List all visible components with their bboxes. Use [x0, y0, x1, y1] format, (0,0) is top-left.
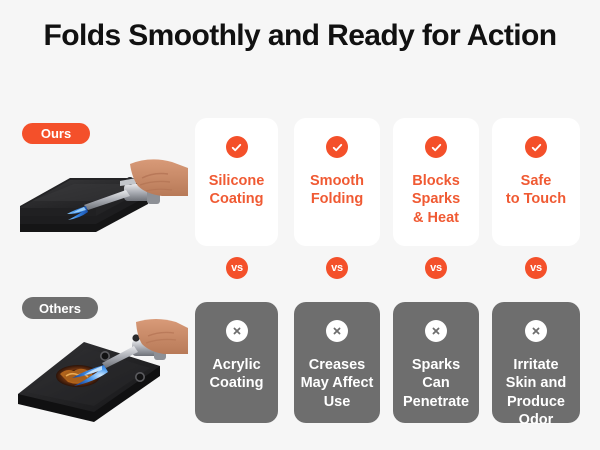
vs-badge-2: vs: [326, 257, 348, 279]
feature-label: Blocks Sparks & Heat: [408, 172, 464, 227]
page-title: Folds Smoothly and Ready for Action: [0, 18, 600, 53]
others-feature-card-2[interactable]: Creases May Affect Use: [294, 302, 380, 423]
check-icon: [425, 136, 447, 158]
vs-badge-3: vs: [425, 257, 447, 279]
ours-feature-card-2[interactable]: Smooth Folding: [294, 118, 380, 246]
vs-badge-1: vs: [226, 257, 248, 279]
others-badge: Others: [22, 297, 98, 319]
ours-feature-card-1[interactable]: Silicone Coating: [195, 118, 278, 246]
ours-feature-card-3[interactable]: Blocks Sparks & Heat: [393, 118, 479, 246]
check-icon: [326, 136, 348, 158]
cross-icon: [326, 320, 348, 342]
feature-label: Sparks Can Penetrate: [399, 356, 473, 411]
others-feature-card-1[interactable]: Acrylic Coating: [195, 302, 278, 423]
others-product-image: [8, 318, 188, 430]
feature-label: Silicone Coating: [205, 172, 269, 209]
check-icon: [525, 136, 547, 158]
feature-label: Safe to Touch: [502, 172, 570, 209]
feature-label: Irritate Skin and Produce Odor: [502, 356, 570, 429]
check-icon: [226, 136, 248, 158]
others-feature-card-3[interactable]: Sparks Can Penetrate: [393, 302, 479, 423]
feature-label: Creases May Affect Use: [297, 356, 378, 411]
ours-product-image: [8, 148, 188, 248]
feature-label: Acrylic Coating: [206, 356, 268, 393]
feature-label: Smooth Folding: [306, 172, 368, 209]
vs-badge-4: vs: [525, 257, 547, 279]
cross-icon: [525, 320, 547, 342]
others-feature-card-4[interactable]: Irritate Skin and Produce Odor: [492, 302, 580, 423]
cross-icon: [425, 320, 447, 342]
cross-icon: [226, 320, 248, 342]
ours-badge: Ours: [22, 123, 90, 144]
ours-feature-card-4[interactable]: Safe to Touch: [492, 118, 580, 246]
